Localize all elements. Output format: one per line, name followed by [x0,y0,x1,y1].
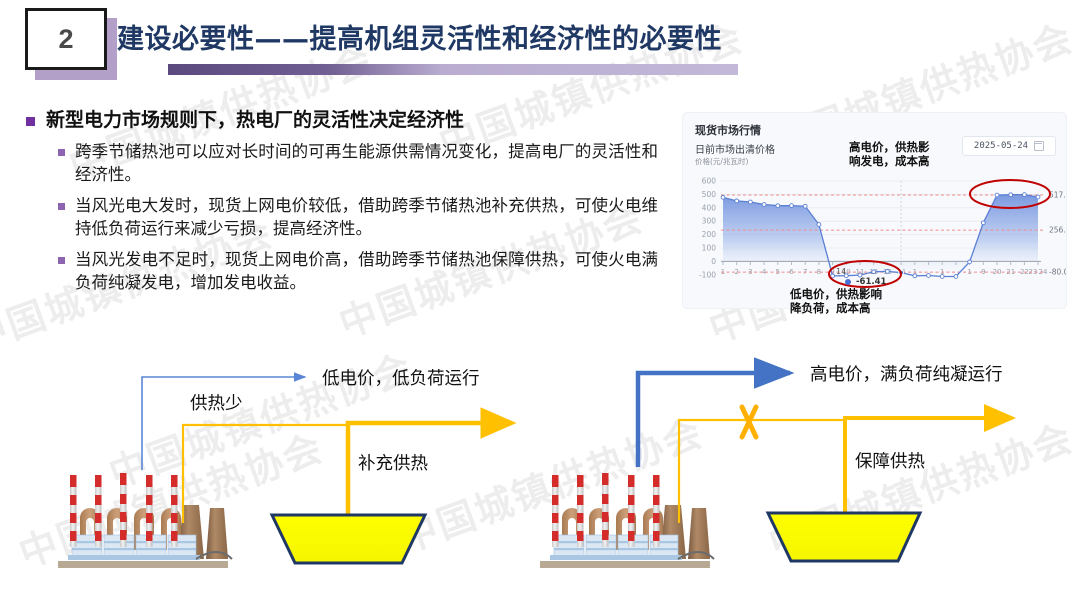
section-heading: 新型电力市场规则下，热电厂的灵活性决定经济性 [26,108,464,133]
panel-subtitle: 日前市场出清价格 [695,141,775,156]
section-heading-label: 新型电力市场规则下，热电厂的灵活性决定经济性 [46,108,464,133]
svg-text:0: 0 [711,257,716,266]
left-blue-arrow-label: 低电价，低负荷运行 [322,365,480,390]
chart-tooltip: -61.41 [845,277,886,287]
left-storage-label: 补充供热 [358,450,428,475]
bullet-square-icon [26,117,35,126]
high-price-annotation: 高电价，供热影 响发电，成本高 [849,140,930,169]
low-price-annotation-line1: 低电价，供热影响 [790,287,882,301]
right-blue-arrow-label: 高电价，满负荷纯凝运行 [810,361,1003,386]
blocked-x-marker [742,407,756,437]
reference-line-labels: 517.65 256.08 -80.01 [1049,191,1066,277]
date-picker[interactable]: 2025-05-24 [962,136,1056,156]
right-yellow-supply-arrow [679,420,845,523]
right-heat-storage-pit-icon [768,513,920,561]
left-yellow-arrow-label: 供热少 [190,390,243,415]
tooltip-x-label: 14 [836,267,846,276]
svg-text:500: 500 [702,190,717,199]
high-price-annotation-line1: 高电价，供热影 [849,140,930,154]
flow-diagram: 低电价，低负荷运行 供热少 补充供热 高电价，满负荷纯凝运行 保障供热 [0,345,1080,608]
slide-number-box: 2 [25,8,107,70]
svg-text:256.08: 256.08 [1049,226,1066,235]
calendar-icon [1034,141,1044,151]
y-axis-unit-label: 价格(元/兆瓦时) [695,156,748,167]
left-power-plant-icon [58,473,232,568]
svg-text:300: 300 [702,217,717,226]
slide-header: 2 建设必要性——提高机组灵活性和经济性的必要性 [0,0,1080,88]
left-heat-storage-pit-icon [272,515,425,563]
y-axis-tick-labels: 600 500 400 300 200 100 0 -100 [699,177,716,280]
right-power-plant-icon [540,473,714,568]
svg-text:517.65: 517.65 [1049,191,1066,200]
right-storage-label: 保障供热 [855,448,925,473]
list-item: 当风光发电不足时，现货上网电价高，借助跨季节储热池保障供热，可使火电满负荷纯凝发… [58,248,658,295]
svg-text:24: 24 [1039,268,1048,276]
list-item-label: 当风光发电不足时，现货上网电价高，借助跨季节储热池保障供热，可使火电满负荷纯凝发… [75,248,658,295]
svg-text:-100: -100 [699,270,716,279]
bullet-square-icon [58,257,65,264]
svg-text:100: 100 [702,244,717,253]
low-price-annotation: 低电价，供热影响 降负荷，成本高 [790,287,882,316]
svg-text:400: 400 [702,203,717,212]
tooltip-dot-icon [845,279,851,285]
svg-text:-80.01: -80.01 [1049,268,1066,277]
tooltip-value: -61.41 [856,277,886,287]
svg-text:600: 600 [702,177,717,186]
date-picker-value: 2025-05-24 [974,141,1028,151]
panel-title: 现货市场行情 [695,122,761,138]
bullet-square-icon [58,149,65,156]
bullet-square-icon [58,203,65,210]
list-item-label: 当风光电大发时，现货上网电价较低，借助跨季节储热池补充供热，可使火电维持低负荷运… [75,194,658,241]
svg-text:200: 200 [702,230,717,239]
title-underline-bar [168,64,738,75]
page-title: 建设必要性——提高机组灵活性和经济性的必要性 [117,17,722,56]
left-yellow-supply-arrow [183,425,348,523]
bullet-list: 跨季节储热池可以应对长时间的可再生能源供需情况变化，提高电厂的灵活性和经济性。 … [58,140,658,302]
high-price-annotation-line2: 响发电，成本高 [849,154,930,168]
list-item: 跨季节储热池可以应对长时间的可再生能源供需情况变化，提高电厂的灵活性和经济性。 [58,140,658,187]
low-price-annotation-line2: 降负荷，成本高 [790,301,882,315]
list-item: 当风光电大发时，现货上网电价较低，借助跨季节储热池补充供热，可使火电维持低负荷运… [58,194,658,241]
list-item-label: 跨季节储热池可以应对长时间的可再生能源供需情况变化，提高电厂的灵活性和经济性。 [75,140,658,187]
